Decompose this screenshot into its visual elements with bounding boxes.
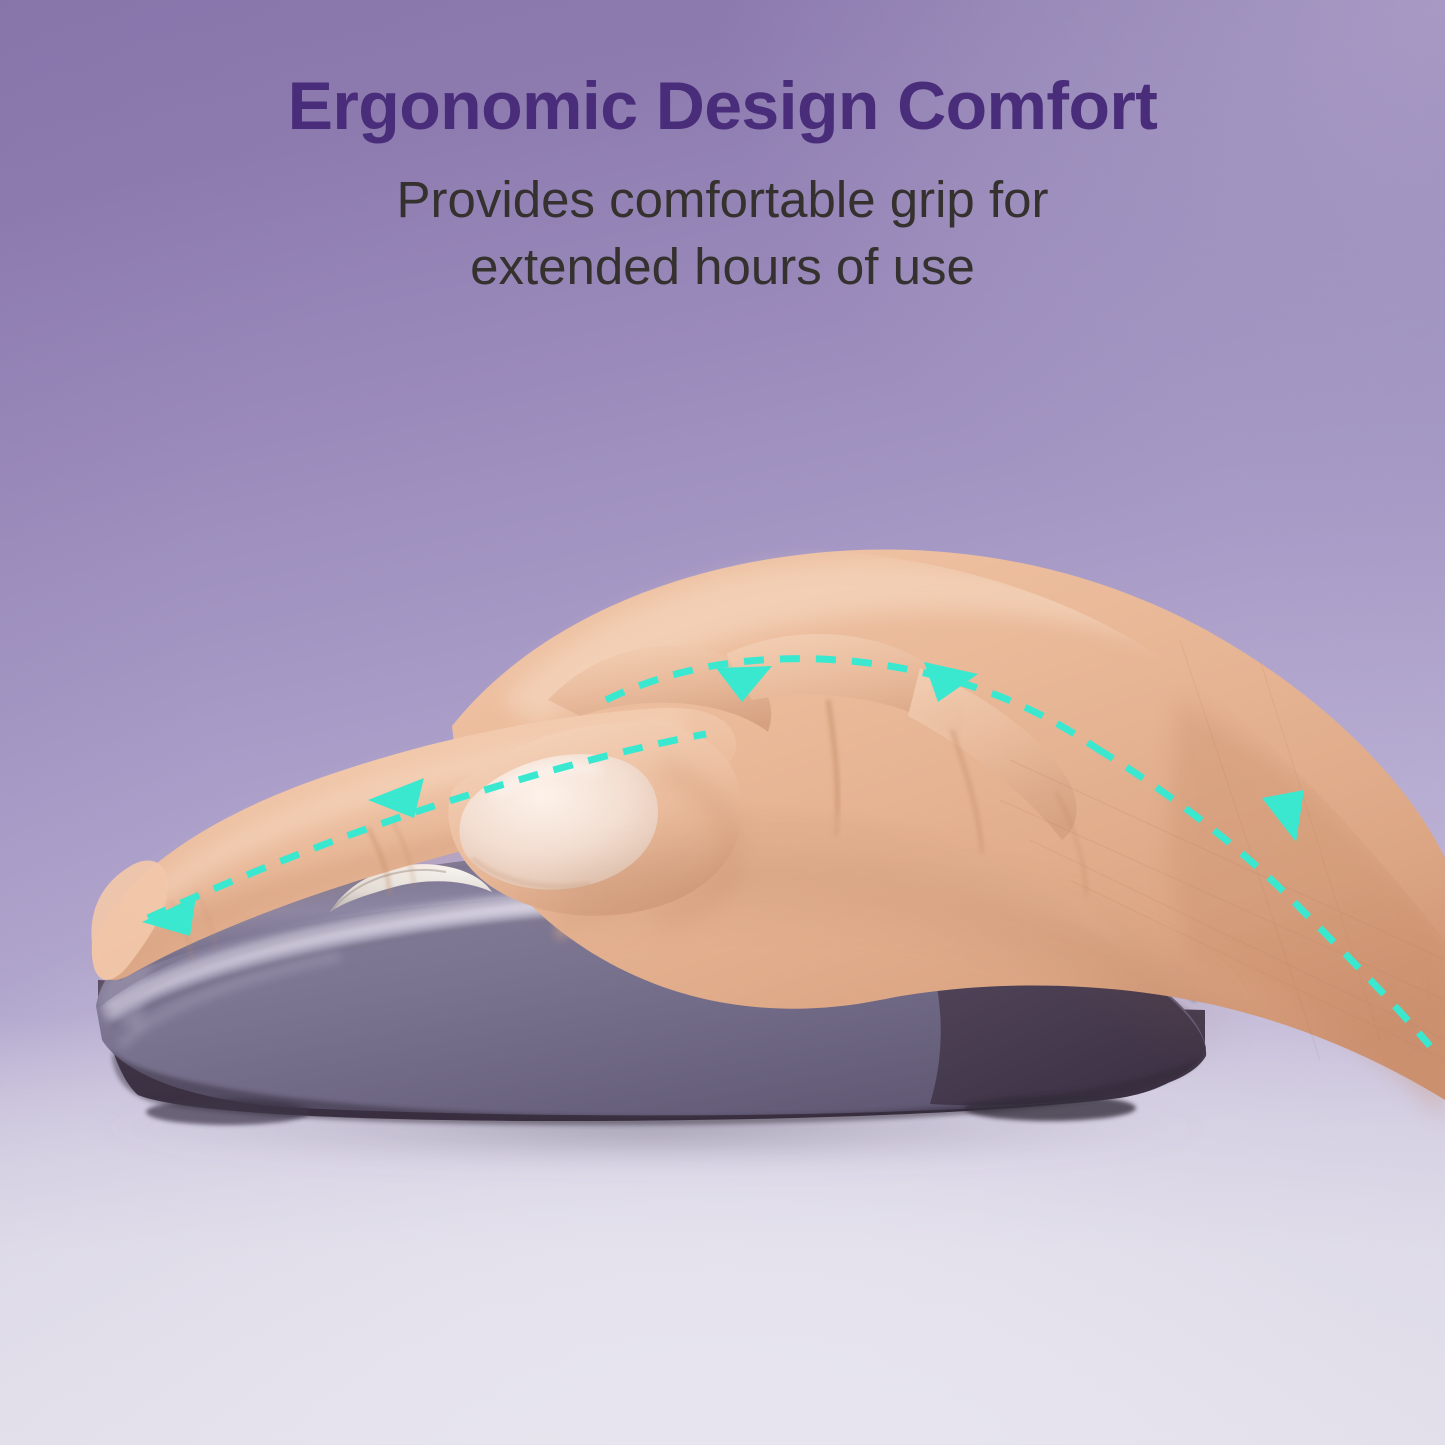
product-marketing-image: Ergonomic Design Comfort Provides comfor…	[0, 0, 1445, 1445]
subtitle-line-1: Provides comfortable grip for	[293, 166, 1153, 233]
page-subtitle: Provides comfortable grip for extended h…	[293, 166, 1153, 301]
page-title: Ergonomic Design Comfort	[0, 72, 1445, 140]
subtitle-line-2: extended hours of use	[293, 233, 1153, 300]
marketing-text-block: Ergonomic Design Comfort Provides comfor…	[0, 72, 1445, 301]
